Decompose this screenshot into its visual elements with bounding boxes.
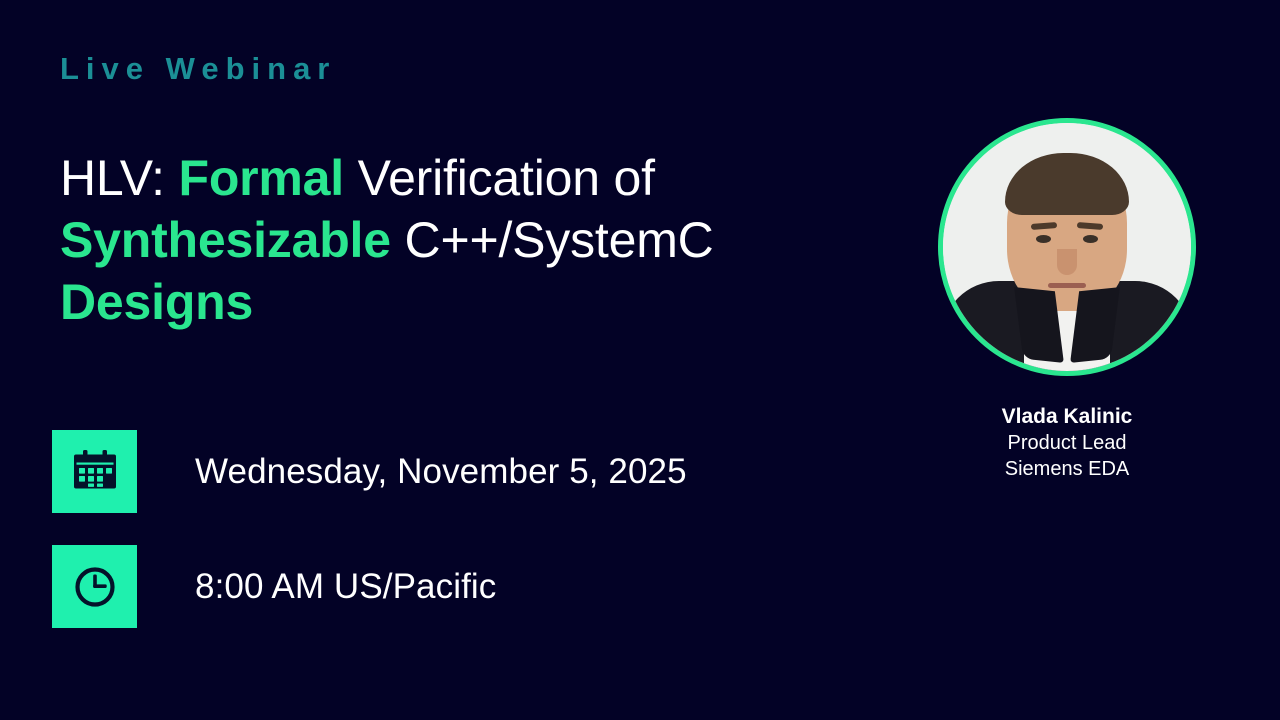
clock-icon bbox=[72, 564, 118, 610]
title-prefix: HLV: bbox=[60, 150, 178, 206]
speaker-organization: Siemens EDA bbox=[935, 456, 1199, 482]
calendar-icon-tile bbox=[52, 430, 137, 513]
speaker-role: Product Lead bbox=[935, 430, 1199, 456]
title-highlight-designs: Designs bbox=[60, 274, 253, 330]
webinar-time-row: 8:00 AM US/Pacific bbox=[52, 545, 496, 628]
speaker-portrait-image bbox=[943, 123, 1191, 371]
calendar-icon bbox=[72, 450, 118, 494]
webinar-time-text: 8:00 AM US/Pacific bbox=[195, 567, 496, 607]
eyebrow-label: Live Webinar bbox=[60, 52, 336, 86]
clock-icon-tile bbox=[52, 545, 137, 628]
speaker-block: Vlada Kalinic Product Lead Siemens EDA bbox=[935, 118, 1199, 482]
title-plain-cpp-systemc: C++/SystemC bbox=[391, 212, 714, 268]
webinar-date-text: Wednesday, November 5, 2025 bbox=[195, 452, 687, 492]
title-highlight-formal: Formal bbox=[178, 150, 344, 206]
speaker-name: Vlada Kalinic bbox=[935, 404, 1199, 430]
title-highlight-synthesizable: Synthesizable bbox=[60, 212, 391, 268]
speaker-avatar bbox=[938, 118, 1196, 376]
webinar-date-row: Wednesday, November 5, 2025 bbox=[52, 430, 687, 513]
title-plain-verification: Verification of bbox=[344, 150, 655, 206]
webinar-promo-banner: Live Webinar HLV: Formal Verification of… bbox=[0, 0, 1280, 720]
page-title: HLV: Formal Verification of Synthesizabl… bbox=[60, 147, 860, 333]
